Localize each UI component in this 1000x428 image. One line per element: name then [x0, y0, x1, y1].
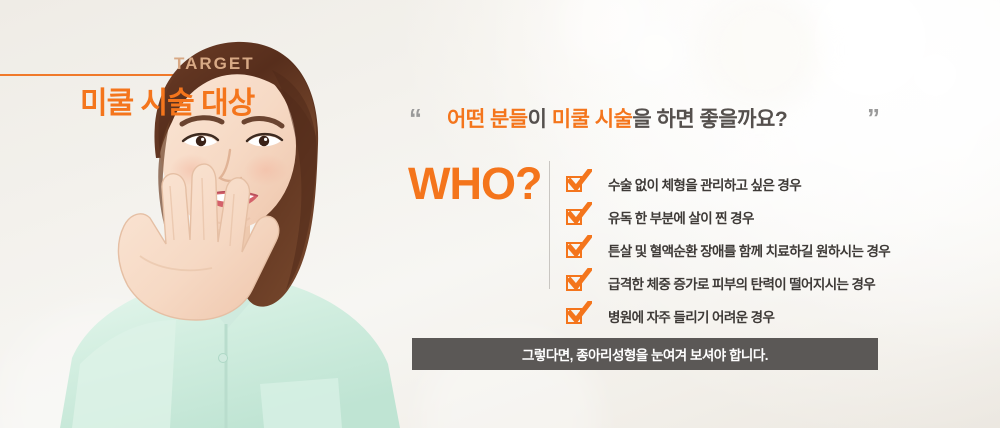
list-item: 유독 한 부분에 살이 찐 경우 [566, 201, 890, 233]
checklist: 수술 없이 체형을 관리하고 싶은 경우 유독 한 부분에 살이 찐 경우 튼살… [566, 168, 890, 333]
target-kicker: TARGET [174, 54, 255, 74]
check-mark-icon [566, 308, 582, 324]
quote-close-mark: ” [867, 105, 880, 131]
check-mark-icon [566, 176, 582, 192]
list-item: 수술 없이 체형을 관리하고 싶은 경우 [566, 168, 890, 200]
list-item-label: 수술 없이 체형을 관리하고 싶은 경우 [608, 174, 801, 194]
model-blouse [60, 274, 400, 428]
promo-banner: TARGET 미쿨 시술 대상 [0, 0, 1000, 428]
list-item: 급격한 체중 증가로 피부의 탄력이 떨어지시는 경우 [566, 267, 890, 299]
quote-segment-3: 미쿨 시술 [552, 108, 633, 131]
list-item-label: 유독 한 부분에 살이 찐 경우 [608, 207, 754, 227]
bokeh-circle [880, 20, 990, 130]
check-mark-icon [566, 242, 582, 258]
bokeh-circle [700, 0, 820, 110]
check-mark-icon [566, 275, 582, 291]
bokeh-circle [0, 300, 200, 428]
footer-callout-bar: 그렇다면, 종아리성형을 눈여겨 보셔야 합니다. [412, 338, 878, 370]
who-label: WHO? [408, 158, 541, 210]
page-title: 미쿨 시술 대상 [80, 78, 254, 122]
bokeh-circle [800, 0, 940, 110]
bokeh-circle [930, 55, 1000, 140]
quote-segment-1: 어떤 분들 [447, 108, 528, 131]
quote-text: 어떤 분들이 미쿨 시술을 하면 좋을까요? [447, 103, 787, 133]
list-item-label: 병원에 자주 들리기 어려운 경우 [608, 306, 774, 326]
bokeh-circle [560, 0, 655, 70]
vertical-divider [549, 161, 550, 289]
list-item-label: 튼살 및 혈액순환 장애를 함께 치료하길 원하시는 경우 [608, 240, 890, 260]
bokeh-circle [620, 18, 690, 88]
header-rule [0, 74, 250, 76]
list-item-label: 급격한 체중 증가로 피부의 탄력이 떨어지시는 경우 [608, 273, 875, 293]
footer-callout-text: 그렇다면, 종아리성형을 눈여겨 보셔야 합니다. [522, 344, 768, 364]
check-mark-icon [566, 209, 582, 225]
quote-open-mark: “ [409, 105, 422, 131]
quote-segment-4: 을 하면 좋을까요? [632, 108, 787, 131]
quote-segment-2: 이 [528, 108, 552, 131]
model-hand [118, 164, 278, 320]
list-item: 튼살 및 혈액순환 장애를 함께 치료하길 원하시는 경우 [566, 234, 890, 266]
headline-quote: “ 어떤 분들이 미쿨 시술을 하면 좋을까요? ” [405, 103, 885, 137]
list-item: 병원에 자주 들리기 어려운 경우 [566, 300, 890, 332]
